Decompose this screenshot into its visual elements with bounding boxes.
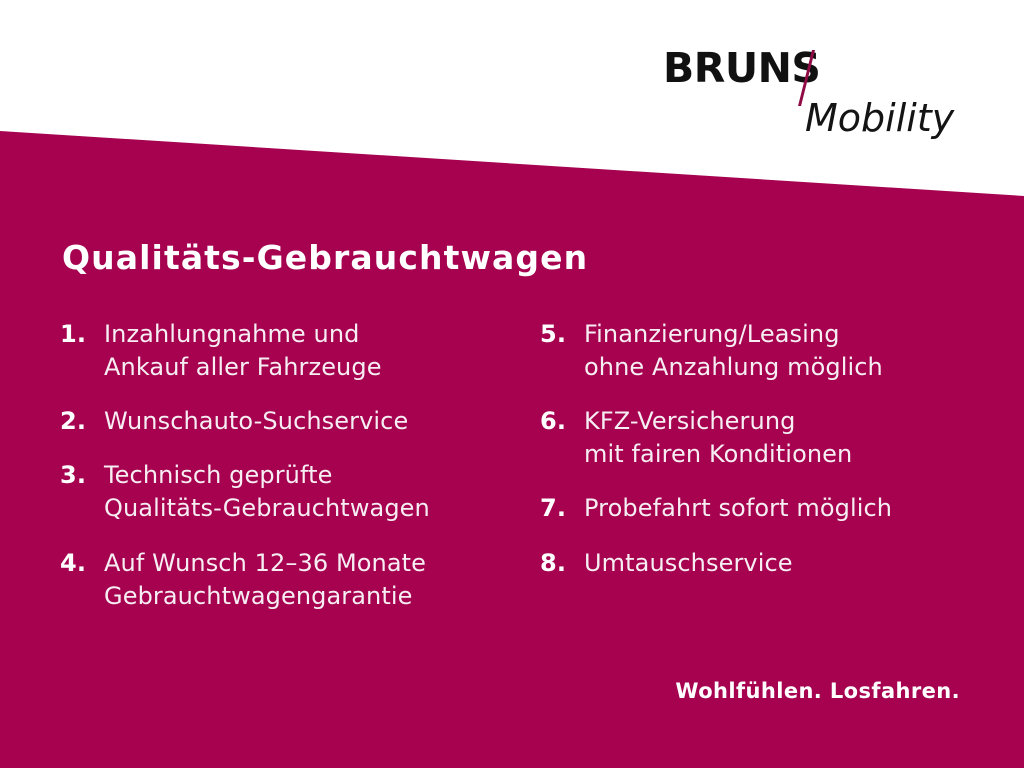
- service-list-right: 5. Finanzierung/Leasing ohne Anzahlung m…: [540, 318, 980, 601]
- list-item-text: Technisch geprüfte Qualitäts-Gebrauchtwa…: [104, 459, 520, 525]
- list-item-number: 7.: [540, 492, 584, 525]
- list-item: 5. Finanzierung/Leasing ohne Anzahlung m…: [540, 318, 980, 384]
- list-item-number: 5.: [540, 318, 584, 351]
- list-item-text: KFZ-Versicherung mit fairen Konditionen: [584, 405, 980, 471]
- brand-logo: BRUNS Mobility: [660, 48, 980, 158]
- list-item-line2: mit fairen Konditionen: [584, 438, 980, 471]
- list-item: 1. Inzahlungnahme und Ankauf aller Fahrz…: [60, 318, 520, 384]
- list-item-line2: Gebrauchtwagengarantie: [104, 580, 520, 613]
- slide-canvas: BRUNS Mobility Qualitäts-Gebrauchtwagen …: [0, 0, 1024, 768]
- list-item-line1: Auf Wunsch 12–36 Monate: [104, 549, 426, 577]
- list-item: 7. Probefahrt sofort möglich: [540, 492, 980, 525]
- list-item: 8. Umtauschservice: [540, 547, 980, 580]
- list-item-number: 4.: [60, 547, 104, 580]
- list-item-line1: Probefahrt sofort möglich: [584, 494, 892, 522]
- logo-subtitle-text: Mobility: [805, 99, 954, 137]
- brand-tagline: Wohlfühlen. Losfahren.: [675, 679, 960, 703]
- list-item-text: Auf Wunsch 12–36 Monate Gebrauchtwagenga…: [104, 547, 520, 613]
- list-item-text: Umtauschservice: [584, 547, 980, 580]
- list-item-line2: Ankauf aller Fahrzeuge: [104, 351, 520, 384]
- list-item-line1: Technisch geprüfte: [104, 461, 333, 489]
- list-item-line1: Inzahlungnahme und: [104, 320, 360, 348]
- list-item-line1: KFZ-Versicherung: [584, 407, 795, 435]
- list-item: 6. KFZ-Versicherung mit fairen Kondition…: [540, 405, 980, 471]
- list-item: 2. Wunschauto-Suchservice: [60, 405, 520, 438]
- service-list-left: 1. Inzahlungnahme und Ankauf aller Fahrz…: [60, 318, 520, 634]
- page-title: Qualitäts-Gebrauchtwagen: [62, 238, 588, 277]
- list-item-text: Probefahrt sofort möglich: [584, 492, 980, 525]
- list-item-line2: Qualitäts-Gebrauchtwagen: [104, 492, 520, 525]
- list-item-number: 8.: [540, 547, 584, 580]
- list-item-text: Wunschauto-Suchservice: [104, 405, 520, 438]
- list-item-text: Finanzierung/Leasing ohne Anzahlung mögl…: [584, 318, 980, 384]
- list-item-text: Inzahlungnahme und Ankauf aller Fahrzeug…: [104, 318, 520, 384]
- list-item-number: 1.: [60, 318, 104, 351]
- list-item-number: 3.: [60, 459, 104, 492]
- list-item-number: 6.: [540, 405, 584, 438]
- list-item: 3. Technisch geprüfte Qualitäts-Gebrauch…: [60, 459, 520, 525]
- list-item-number: 2.: [60, 405, 104, 438]
- list-item-line1: Finanzierung/Leasing: [584, 320, 840, 348]
- list-item-line1: Umtauschservice: [584, 549, 793, 577]
- list-item-line2: ohne Anzahlung möglich: [584, 351, 980, 384]
- list-item: 4. Auf Wunsch 12–36 Monate Gebrauchtwage…: [60, 547, 520, 613]
- logo-wordmark-text: BRUNS: [663, 48, 820, 89]
- list-item-line1: Wunschauto-Suchservice: [104, 407, 408, 435]
